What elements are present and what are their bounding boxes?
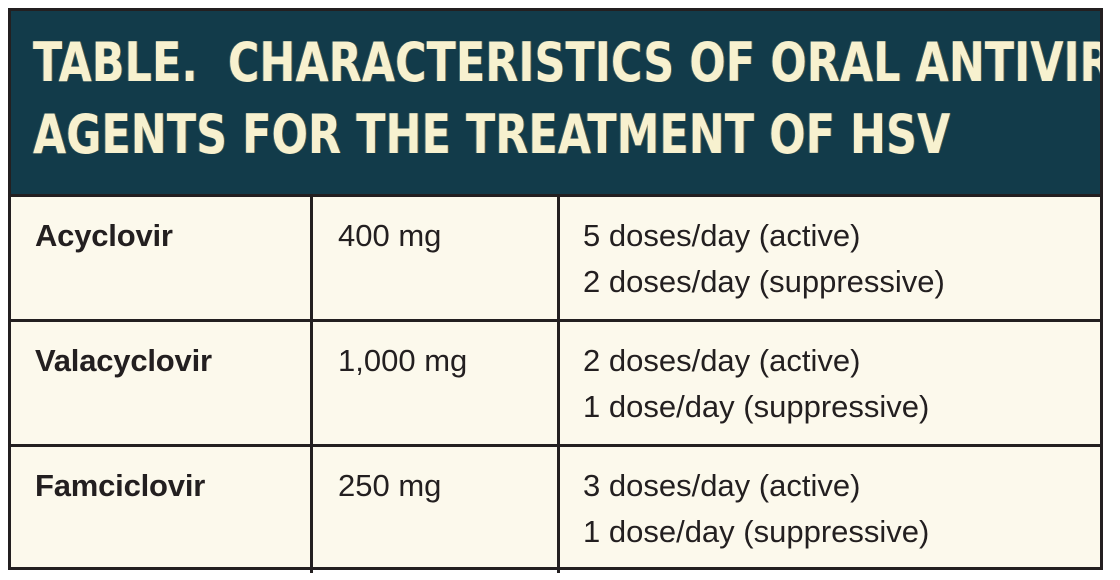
frequency-active: 2 doses/day (active)	[583, 338, 1100, 384]
antiviral-characteristics-table: TABLE. CHARACTERISTICS OF ORAL ANTIVIRAL…	[8, 8, 1103, 570]
frequency-suppressive: 2 doses/day (suppressive)	[583, 259, 1100, 305]
table-header-banner: TABLE. CHARACTERISTICS OF ORAL ANTIVIRAL…	[11, 11, 1100, 197]
table-title-line-2: AGENTS FOR THE TREATMENT OF HSV	[33, 99, 963, 171]
table-row: Acyclovir 400 mg 5 doses/day (active) 2 …	[11, 197, 1100, 322]
cell-dose: 1,000 mg	[313, 322, 560, 444]
frequency-active: 3 doses/day (active)	[583, 463, 1100, 509]
cell-drug-name: Acyclovir	[11, 197, 313, 319]
table-title: TABLE. CHARACTERISTICS OF ORAL ANTIVIRAL…	[33, 27, 1090, 171]
table-body: Acyclovir 400 mg 5 doses/day (active) 2 …	[11, 197, 1100, 567]
table-title-line-1: TABLE. CHARACTERISTICS OF ORAL ANTIVIRAL	[33, 27, 963, 99]
frequency-suppressive: 1 dose/day (suppressive)	[583, 384, 1100, 430]
frequency-suppressive: 1 dose/day (suppressive)	[583, 509, 1100, 555]
frequency-active: 5 doses/day (active)	[583, 213, 1100, 259]
cell-frequency: 3 doses/day (active) 1 dose/day (suppres…	[560, 447, 1100, 573]
cell-drug-name: Famciclovir	[11, 447, 313, 573]
cell-drug-name: Valacyclovir	[11, 322, 313, 444]
table-row: Famciclovir 250 mg 3 doses/day (active) …	[11, 447, 1100, 573]
table-row: Valacyclovir 1,000 mg 2 doses/day (activ…	[11, 322, 1100, 447]
cell-dose: 250 mg	[313, 447, 560, 573]
cell-dose: 400 mg	[313, 197, 560, 319]
cell-frequency: 2 doses/day (active) 1 dose/day (suppres…	[560, 322, 1100, 444]
cell-frequency: 5 doses/day (active) 2 doses/day (suppre…	[560, 197, 1100, 319]
